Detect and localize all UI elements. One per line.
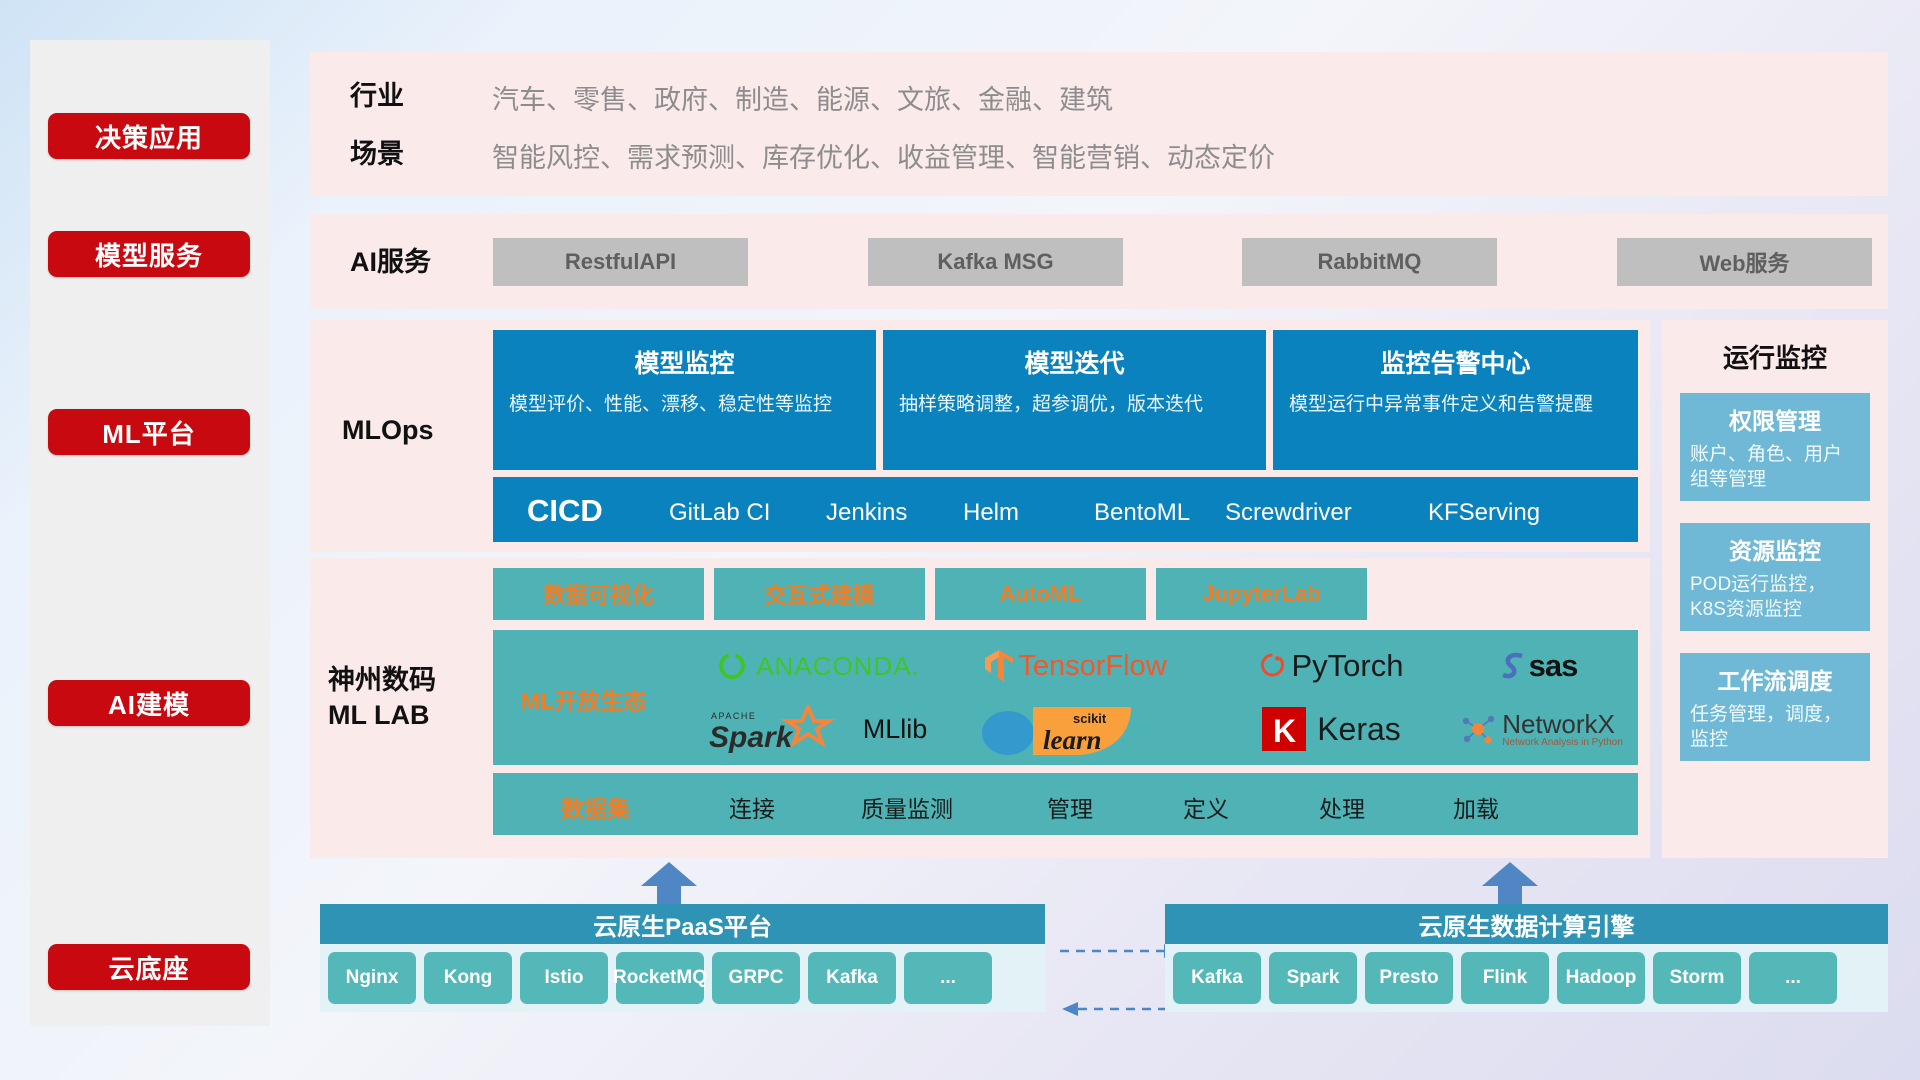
- sidebar-item-ai-modeling[interactable]: AI建模: [48, 680, 250, 726]
- mlops-card-model-iteration[interactable]: 模型迭代 抽样策略调整，超参调优，版本迭代: [883, 330, 1266, 470]
- paas-chip-nginx[interactable]: Nginx: [328, 952, 416, 1004]
- dataset-item-loading[interactable]: 加载: [1453, 790, 1499, 824]
- chip-label: JupyterLab: [1202, 581, 1321, 607]
- mlops-label: MLOps: [342, 412, 434, 448]
- card-title: 模型迭代: [883, 344, 1266, 380]
- tool-chip-jupyterlab[interactable]: JupyterLab: [1156, 568, 1367, 620]
- paas-chip-grpc[interactable]: GRPC: [712, 952, 800, 1004]
- card-desc: 账户、角色、用户组等管理: [1680, 436, 1870, 492]
- engine-to-paas-arrow: [1060, 1000, 1182, 1023]
- dataset-item-connect[interactable]: 连接: [729, 790, 775, 824]
- service-chip-kafka-msg[interactable]: Kafka MSG: [868, 238, 1123, 286]
- chip-label: Nginx: [346, 968, 399, 988]
- chip-label: 交互式建模: [764, 578, 874, 610]
- pytorch-mark: [1259, 651, 1286, 681]
- svg-text:Spark: Spark: [709, 721, 794, 753]
- tool-chip-data-visualization[interactable]: 数据可视化: [493, 568, 704, 620]
- tier-label: 云底座: [108, 949, 189, 986]
- networkx-logo[interactable]: NetworkX Network Analysis in Python: [1443, 700, 1638, 758]
- mlops-band: MLOps 模型监控 模型评价、性能、漂移、稳定性等监控 模型迭代 抽样策略调整…: [310, 320, 1650, 552]
- engine-chip-flink[interactable]: Flink: [1461, 952, 1549, 1004]
- chip-label: RestfulAPI: [565, 249, 676, 275]
- industry-row-value: 汽车、零售、政府、制造、能源、文旅、金融、建筑: [492, 78, 1113, 117]
- sidebar-item-model-service[interactable]: 模型服务: [48, 231, 250, 277]
- chip-label: 数据可视化: [543, 578, 653, 610]
- card-desc: POD运行监控，K8S资源监控: [1680, 566, 1870, 622]
- sidebar-item-decision-application[interactable]: 决策应用: [48, 113, 250, 159]
- paas-chip-rocketmq[interactable]: RocketMQ: [616, 952, 704, 1004]
- engine-title: 云原生数据计算引擎: [1419, 907, 1635, 942]
- engine-chip-spark[interactable]: Spark: [1269, 952, 1357, 1004]
- chip-label: Flink: [1483, 968, 1527, 988]
- mlops-card-alert-center[interactable]: 监控告警中心 模型运行中异常事件定义和告警提醒: [1273, 330, 1638, 470]
- engine-chip-kafka[interactable]: Kafka: [1173, 952, 1261, 1004]
- dataset-item-management[interactable]: 管理: [1047, 790, 1093, 824]
- card-desc: 模型运行中异常事件定义和告警提醒: [1289, 392, 1622, 418]
- engine-chip-presto[interactable]: Presto: [1365, 952, 1453, 1004]
- scenario-row-label: 场景: [350, 136, 404, 172]
- sidebar-item-cloud-foundation[interactable]: 云底座: [48, 944, 250, 990]
- service-chip-web-service[interactable]: Web服务: [1617, 238, 1872, 286]
- tier-label: AI建模: [108, 685, 190, 722]
- card-title: 模型监控: [493, 344, 876, 380]
- chip-label: AutoML: [1000, 581, 1082, 607]
- chip-label: Storm: [1670, 968, 1725, 988]
- engine-chip-more[interactable]: ...: [1749, 952, 1837, 1004]
- ecosystem-label: ML开放生态: [521, 682, 646, 716]
- tensorflow-mark: [984, 649, 1014, 683]
- ai-service-band: AI服务 RestfulAPI Kafka MSG RabbitMQ Web服务: [310, 214, 1888, 309]
- cloud-native-data-compute-engine: 云原生数据计算引擎 Kafka Spark Presto Flink Hadoo…: [1165, 904, 1888, 1012]
- spark-mark: APACHE Spark: [709, 705, 859, 753]
- sas-logo[interactable]: sas: [1448, 638, 1628, 694]
- service-chip-rabbitmq[interactable]: RabbitMQ: [1242, 238, 1497, 286]
- engine-up-arrow: [1481, 862, 1539, 909]
- sas-mark: [1499, 650, 1529, 682]
- ml-ecosystem-band: ML开放生态 ANACONDA. TensorFlow: [493, 630, 1638, 765]
- svg-text:scikit: scikit: [1073, 711, 1107, 726]
- application-band: 行业 汽车、零售、政府、制造、能源、文旅、金融、建筑 场景 智能风控、需求预测、…: [310, 52, 1888, 196]
- paas-chip-more[interactable]: ...: [904, 952, 992, 1004]
- monitoring-panel-title: 运行监控: [1662, 338, 1888, 375]
- cloud-native-paas-platform: 云原生PaaS平台 Nginx Kong Istio RocketMQ GRPC…: [320, 904, 1045, 1012]
- chip-label: RabbitMQ: [1318, 249, 1422, 275]
- dataset-label: 数据集: [561, 790, 630, 824]
- tier-label: ML平台: [102, 414, 196, 451]
- chip-label: Hadoop: [1566, 968, 1637, 988]
- paas-header: 云原生PaaS平台: [320, 904, 1045, 944]
- tier-label: 决策应用: [95, 118, 203, 155]
- tool-chip-interactive-modeling[interactable]: 交互式建模: [714, 568, 925, 620]
- cicd-title: CICD: [527, 493, 603, 529]
- card-desc: 抽样策略调整，超参调优，版本迭代: [899, 392, 1250, 418]
- scikit-learn-mark: scikit learn: [981, 701, 1171, 757]
- logo-text: sas: [1529, 648, 1578, 684]
- paas-title: 云原生PaaS平台: [593, 907, 772, 942]
- svg-text:K: K: [1273, 713, 1296, 749]
- anaconda-mark: [716, 650, 748, 682]
- pytorch-logo[interactable]: PyTorch: [1211, 638, 1451, 694]
- keras-mark: K: [1261, 706, 1307, 752]
- cicd-bar: CICD GitLab CI Jenkins Helm BentoML Scre…: [493, 477, 1638, 542]
- chip-label: ...: [1785, 968, 1801, 988]
- chip-label: Istio: [544, 968, 583, 988]
- ml-lab-label: 神州数码 ML LAB: [328, 663, 436, 733]
- dataset-row: 数据集 连接 质量监测 管理 定义 处理 加载: [493, 773, 1638, 835]
- engine-chip-hadoop[interactable]: Hadoop: [1557, 952, 1645, 1004]
- tensorflow-logo[interactable]: TensorFlow: [943, 638, 1208, 694]
- card-title: 权限管理: [1680, 393, 1870, 436]
- scikit-learn-logo[interactable]: scikit learn: [943, 700, 1208, 758]
- monitor-card-resource-monitoring[interactable]: 资源监控 POD运行监控，K8S资源监控: [1680, 523, 1870, 631]
- tier-sidebar: [30, 40, 270, 1026]
- logo-text: NetworkX: [1502, 711, 1623, 737]
- ml-lab-label-line1: 神州数码: [328, 663, 436, 698]
- engine-chip-row: Kafka Spark Presto Flink Hadoop Storm ..…: [1165, 944, 1888, 1012]
- dataset-item-definition[interactable]: 定义: [1183, 790, 1229, 824]
- chip-label: Kafka: [1191, 968, 1243, 988]
- cicd-item-screwdriver[interactable]: Screwdriver: [1225, 499, 1337, 527]
- cicd-item-helm[interactable]: Helm: [963, 499, 1043, 527]
- monitor-card-workflow-scheduling[interactable]: 工作流调度 任务管理，调度，监控: [1680, 653, 1870, 761]
- svg-text:learn: learn: [1043, 725, 1102, 755]
- logo-text: ANACONDA.: [756, 651, 920, 682]
- tool-chip-automl[interactable]: AutoML: [935, 568, 1146, 620]
- runtime-monitoring-panel: 运行监控 权限管理 账户、角色、用户组等管理 资源监控 POD运行监控，K8S资…: [1662, 320, 1888, 858]
- anaconda-logo[interactable]: ANACONDA.: [693, 638, 943, 694]
- ai-service-label: AI服务: [350, 244, 431, 280]
- monitor-card-permission-management[interactable]: 权限管理 账户、角色、用户组等管理: [1680, 393, 1870, 501]
- engine-header: 云原生数据计算引擎: [1165, 904, 1888, 944]
- chip-label: Kafka MSG: [937, 249, 1053, 275]
- card-desc: 任务管理，调度，监控: [1680, 696, 1870, 752]
- svg-text:APACHE: APACHE: [711, 711, 756, 721]
- cicd-item-jenkins[interactable]: Jenkins: [826, 499, 904, 527]
- scenario-row-value: 智能风控、需求预测、库存优化、收益管理、智能营销、动态定价: [492, 136, 1275, 175]
- cicd-item-gitlab-ci[interactable]: GitLab CI: [669, 499, 789, 527]
- mlops-card-model-monitoring[interactable]: 模型监控 模型评价、性能、漂移、稳定性等监控: [493, 330, 876, 470]
- paas-chip-kong[interactable]: Kong: [424, 952, 512, 1004]
- paas-chip-row: Nginx Kong Istio RocketMQ GRPC Kafka ...: [320, 944, 1045, 1012]
- logo-text: Keras: [1317, 711, 1401, 748]
- paas-up-arrow: [640, 862, 698, 909]
- mllib-text: MLlib: [863, 714, 928, 745]
- dataset-item-quality-monitoring[interactable]: 质量监测: [861, 790, 953, 824]
- chip-label: Web服务: [1699, 246, 1789, 278]
- card-title: 资源监控: [1680, 523, 1870, 566]
- architecture-diagram: 决策应用 模型服务 ML平台 AI建模 云底座 行业 汽车、零售、政府、制造、能…: [0, 0, 1920, 1080]
- cicd-item-kfserving[interactable]: KFServing: [1428, 499, 1528, 527]
- logo-text: PyTorch: [1292, 648, 1404, 684]
- chip-label: Kong: [444, 968, 493, 988]
- industry-row-label: 行业: [350, 78, 404, 114]
- ml-lab-label-line2: ML LAB: [328, 698, 436, 733]
- chip-label: GRPC: [729, 968, 784, 988]
- card-desc: 模型评价、性能、漂移、稳定性等监控: [509, 392, 860, 418]
- paas-to-engine-arrow: [1060, 942, 1182, 965]
- ai-modeling-band: 神州数码 ML LAB 数据可视化 交互式建模 AutoML JupyterLa…: [310, 558, 1650, 858]
- keras-logo[interactable]: K Keras: [1211, 700, 1451, 758]
- card-title: 工作流调度: [1680, 653, 1870, 696]
- paas-chip-istio[interactable]: Istio: [520, 952, 608, 1004]
- spark-mllib-logo[interactable]: APACHE Spark MLlib: [693, 700, 943, 758]
- chip-label: Kafka: [826, 968, 878, 988]
- sidebar-item-ml-platform[interactable]: ML平台: [48, 409, 250, 455]
- tier-label: 模型服务: [95, 236, 203, 273]
- service-chip-restfulapi[interactable]: RestfulAPI: [493, 238, 748, 286]
- networkx-mark: [1458, 709, 1498, 749]
- chip-label: ...: [940, 968, 956, 988]
- chip-label: RocketMQ: [613, 968, 707, 988]
- cicd-item-bentoml[interactable]: BentoML: [1094, 499, 1178, 527]
- dataset-item-processing[interactable]: 处理: [1319, 790, 1365, 824]
- engine-chip-storm[interactable]: Storm: [1653, 952, 1741, 1004]
- paas-chip-kafka[interactable]: Kafka: [808, 952, 896, 1004]
- card-title: 监控告警中心: [1273, 344, 1638, 380]
- chip-label: Spark: [1287, 968, 1340, 988]
- networkx-tagline: Network Analysis in Python: [1502, 737, 1623, 748]
- logo-text: TensorFlow: [1018, 650, 1166, 683]
- chip-label: Presto: [1379, 968, 1438, 988]
